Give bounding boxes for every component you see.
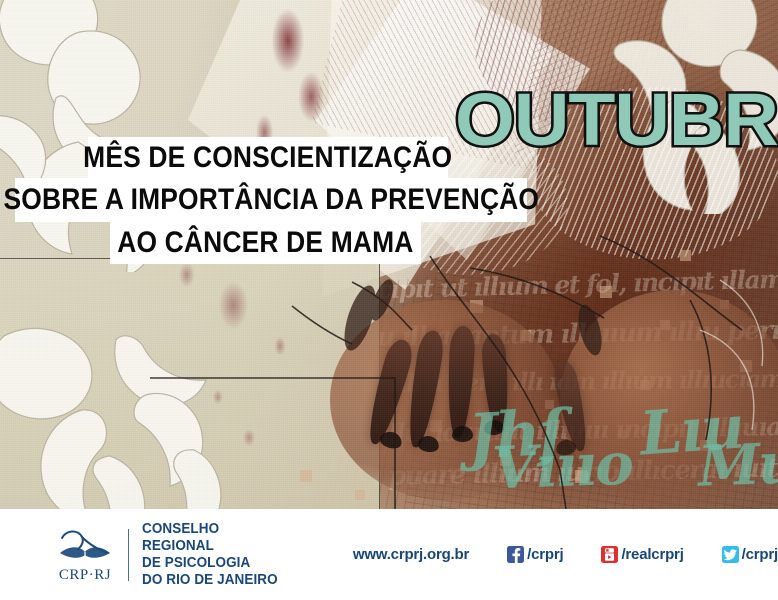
poster-footer: CRP·RJ CONSELHO REGIONAL DE PSICOLOGIA D… [0,509,778,600]
headline-line-2: SOBRE A IMPORTÂNCIA DA PREVENÇÃO [3,183,539,217]
brand-name-line-3: DO RIO DE JANEIRO [142,572,280,589]
social-facebook[interactable]: /crprj [507,546,563,563]
calligraphy-glyph: Vıııo [491,430,633,503]
eyebrow-text: OUTUBRO [455,83,778,157]
contact-info: www.crprj.org.br /crprj [353,546,778,563]
facebook-handle[interactable]: /crprj [527,546,563,563]
brand-name-line-2: DE PSICOLOGIA [142,555,280,572]
poster: ıncıpıt ut ıllıum et fol, ıncıpıt ıllamı… [0,0,778,600]
open-book-dove-icon: CRP·RJ [52,527,118,583]
brand-lockup: CRP·RJ CONSELHO REGIONAL DE PSICOLOGIA D… [52,521,291,589]
headline-line-3: AO CÂNCER DE MAMA [117,226,413,260]
brand-acronym: CRP·RJ [52,567,118,584]
calligraphy-glyph: Mu [697,430,778,499]
headline-line-1: MÊS DE CONSCIENTIZAÇÃO [83,141,452,175]
eyebrow-outubro: OUTUBRO [455,83,778,157]
twitter-icon[interactable] [722,546,739,563]
open-book-dove-glyph [52,527,118,571]
social-twitter[interactable]: /crprj [722,546,778,563]
social-youtube[interactable]: /realcrprj [601,546,683,563]
facebook-icon[interactable] [507,546,524,563]
twitter-handle[interactable]: /crprj [742,546,778,563]
beige-plane-shape [0,258,380,509]
brand-name: CONSELHO REGIONAL DE PSICOLOGIA DO RIO D… [142,521,291,589]
youtube-icon[interactable] [601,546,618,563]
headline-band-1: MÊS DE CONSCIENTIZAÇÃO [88,137,448,179]
brand-divider [128,529,129,581]
headline-band-3: AO CÂNCER DE MAMA [110,222,421,264]
headline-band-2: SOBRE A IMPORTÂNCIA DA PREVENÇÃO [15,178,527,222]
website-link[interactable]: www.crprj.org.br [353,546,469,563]
brand-name-line-1: CONSELHO REGIONAL [142,521,280,555]
youtube-handle[interactable]: /realcrprj [621,546,683,563]
